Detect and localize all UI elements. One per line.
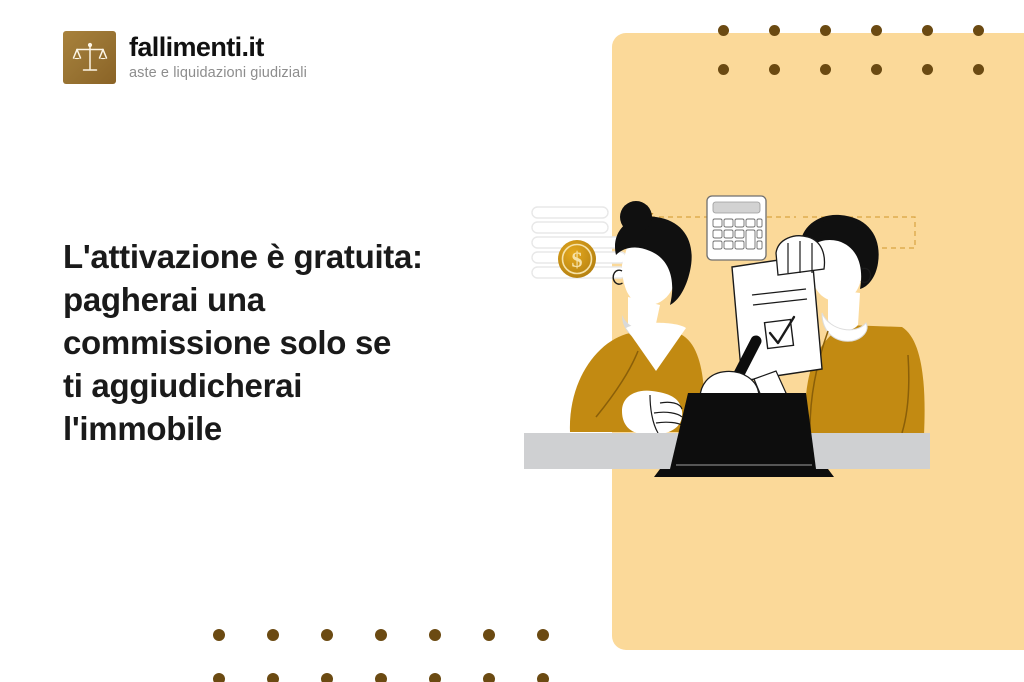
logo-title: fallimenti.it — [129, 34, 307, 61]
dot — [429, 629, 441, 641]
dot — [537, 629, 549, 641]
dollar-coin: $ — [558, 240, 596, 278]
dot — [922, 25, 933, 36]
promo-banner: fallimenti.it aste e liquidazioni giudiz… — [0, 0, 1024, 682]
dot — [267, 673, 279, 682]
dot — [871, 25, 882, 36]
dot-grid-bottom — [213, 629, 591, 682]
svg-text:$: $ — [572, 247, 583, 272]
dot — [769, 64, 780, 75]
dot-row — [718, 64, 1024, 75]
dot — [321, 673, 333, 682]
calculator-icon — [707, 196, 766, 260]
dot-row — [213, 673, 591, 682]
dot — [973, 25, 984, 36]
dot — [321, 629, 333, 641]
dot — [537, 673, 549, 682]
dot — [267, 629, 279, 641]
dot — [718, 64, 729, 75]
logo-tagline: aste e liquidazioni giudiziali — [129, 66, 307, 81]
dot — [375, 629, 387, 641]
dot — [820, 64, 831, 75]
dot — [483, 629, 495, 641]
woman-figure — [570, 201, 705, 435]
dot — [718, 25, 729, 36]
dot — [213, 673, 225, 682]
two-people-signing-contract-illustration: $ — [510, 185, 940, 485]
scales-of-justice-icon — [63, 31, 116, 84]
dot — [922, 64, 933, 75]
dot — [820, 25, 831, 36]
dot — [213, 629, 225, 641]
dot — [973, 64, 984, 75]
dot-row — [718, 25, 1024, 36]
page-title: L'attivazione è gratuita: pagherai una c… — [63, 236, 483, 450]
dot-grid-top — [718, 0, 1024, 103]
dot-row — [213, 629, 591, 641]
dot — [483, 673, 495, 682]
dot — [375, 673, 387, 682]
dot — [871, 64, 882, 75]
brand-logo[interactable]: fallimenti.it aste e liquidazioni giudiz… — [63, 31, 307, 84]
dot — [429, 673, 441, 682]
dot — [769, 25, 780, 36]
